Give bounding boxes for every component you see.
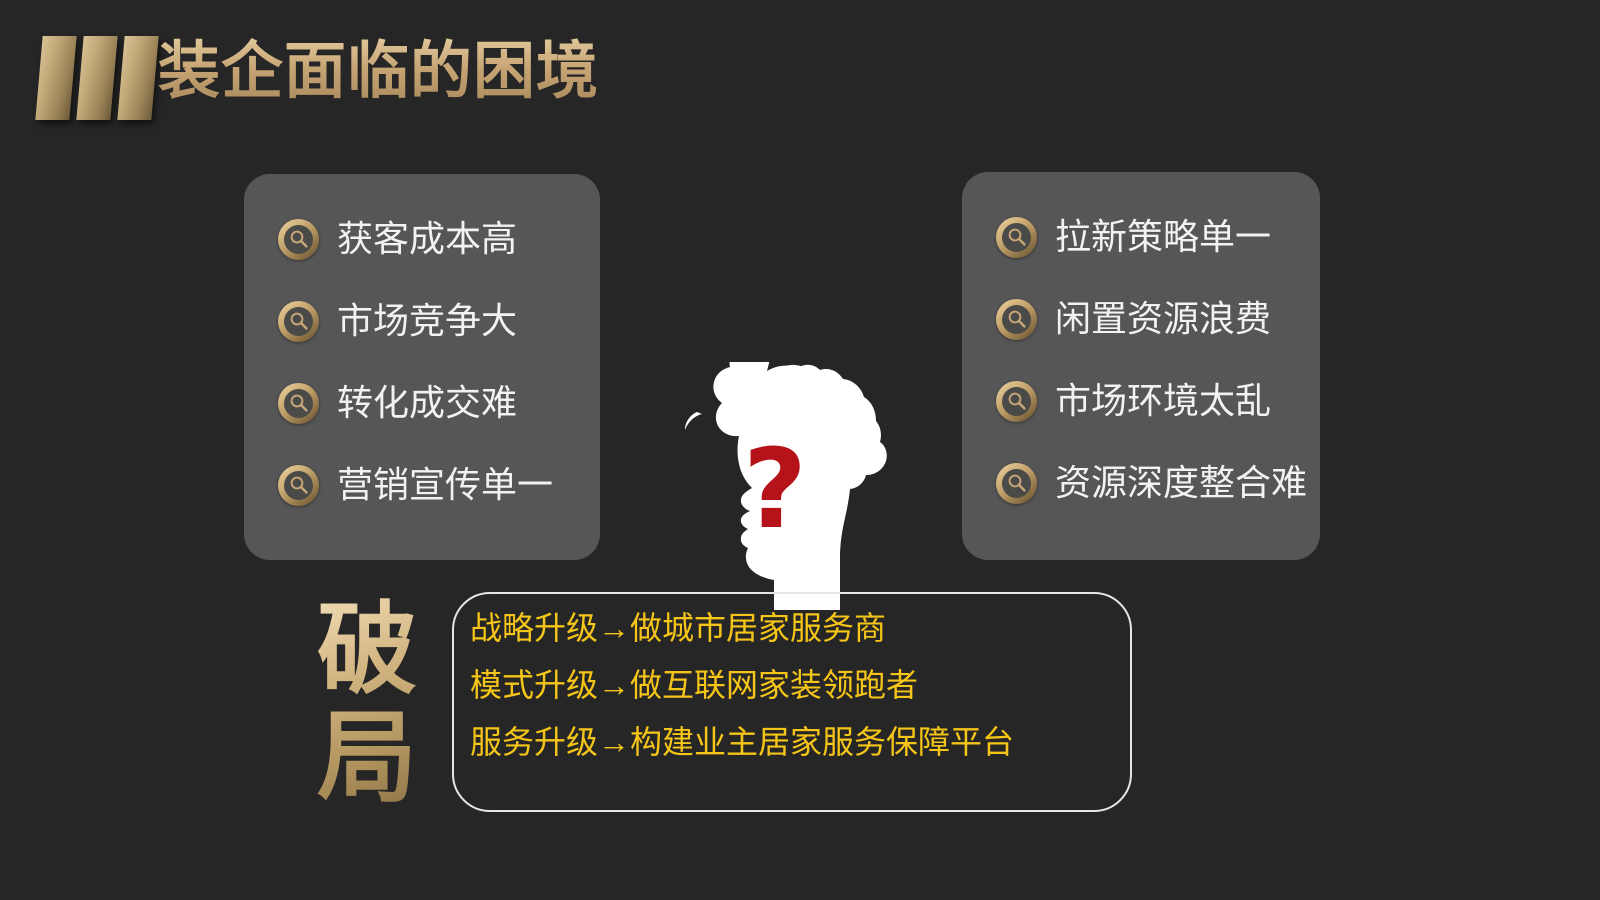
list-item-label: 拉新策略单一 <box>1055 219 1271 255</box>
list-item[interactable]: 市场环境太乱 <box>996 360 1310 442</box>
magnifier-icon <box>996 299 1037 340</box>
slide-canvas: 装企面临的困境 获客成本高 市场竞争大 <box>0 0 1600 900</box>
list-item[interactable]: 营销宣传单一 <box>278 444 590 526</box>
question-mark-symbol: ? <box>743 434 807 544</box>
title-bar-1 <box>35 36 76 120</box>
breakthrough-char-1: 破 <box>312 596 422 704</box>
list-item-label: 市场环境太乱 <box>1055 383 1271 419</box>
solution-callout-box: 战略升级→做城市居家服务商 模式升级→做互联网家装领跑者 服务升级→构建业主居家… <box>452 592 1132 812</box>
magnifier-icon <box>996 217 1037 258</box>
solution-line: 模式升级→做互联网家装领跑者 <box>470 669 1014 701</box>
list-item[interactable]: 获客成本高 <box>278 198 590 280</box>
list-item[interactable]: 市场竞争大 <box>278 280 590 362</box>
problem-card-right: 拉新策略单一 闲置资源浪费 市场环境太乱 <box>962 172 1320 560</box>
list-item-label: 转化成交难 <box>337 385 517 421</box>
magnifier-icon <box>278 219 319 260</box>
breakthrough-char-2: 局 <box>312 704 422 812</box>
problem-list-left: 获客成本高 市场竞争大 转化成交难 <box>278 198 590 526</box>
title-decoration-bars <box>36 36 162 120</box>
list-item-label: 资源深度整合难 <box>1055 465 1307 501</box>
list-item[interactable]: 转化成交难 <box>278 362 590 444</box>
problem-card-left: 获客成本高 市场竞争大 转化成交难 <box>244 174 600 560</box>
list-item[interactable]: 闲置资源浪费 <box>996 278 1310 360</box>
list-item-label: 营销宣传单一 <box>337 467 553 503</box>
title-bar-3 <box>117 36 158 120</box>
list-item-label: 市场竞争大 <box>337 303 517 339</box>
title-bar-2 <box>76 36 117 120</box>
magnifier-icon <box>278 301 319 342</box>
solution-line: 战略升级→做城市居家服务商 <box>470 612 1014 644</box>
head-silhouette-graphic: ? <box>655 362 905 610</box>
magnifier-icon <box>996 463 1037 504</box>
list-item[interactable]: 资源深度整合难 <box>996 442 1310 524</box>
magnifier-icon <box>278 465 319 506</box>
list-item-label: 获客成本高 <box>337 221 517 257</box>
list-item[interactable]: 拉新策略单一 <box>996 196 1310 278</box>
page-title: 装企面临的困境 <box>158 38 599 106</box>
magnifier-icon <box>996 381 1037 422</box>
solution-list: 战略升级→做城市居家服务商 模式升级→做互联网家装领跑者 服务升级→构建业主居家… <box>470 612 1014 758</box>
breakthrough-heading: 破 局 <box>312 596 422 812</box>
magnifier-icon <box>278 383 319 424</box>
problem-list-right: 拉新策略单一 闲置资源浪费 市场环境太乱 <box>996 196 1310 524</box>
list-item-label: 闲置资源浪费 <box>1055 301 1271 337</box>
solution-line: 服务升级→构建业主居家服务保障平台 <box>470 726 1014 758</box>
